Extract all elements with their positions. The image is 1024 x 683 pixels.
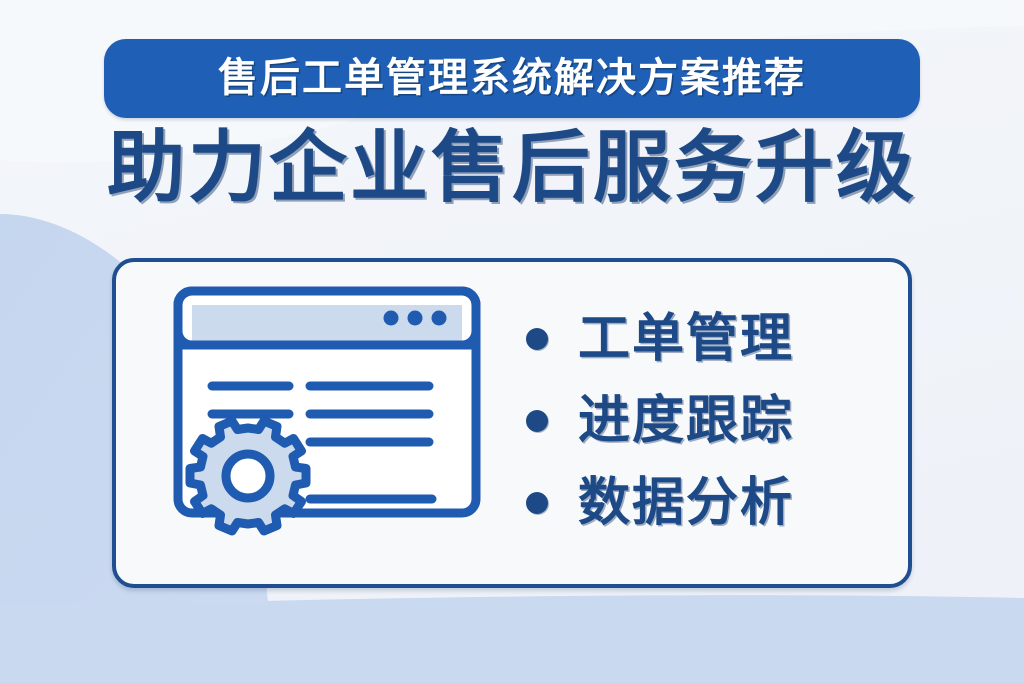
banner-title: 售后工单管理系统解决方案推荐	[218, 58, 806, 98]
list-item: 进度跟踪	[526, 395, 908, 447]
gear-icon	[190, 421, 306, 531]
ticket-window-gear-icon	[164, 273, 504, 573]
feature-label-ticket-management: 工单管理	[578, 313, 794, 365]
feature-label-data-analysis: 数据分析	[578, 477, 794, 529]
poster-canvas: 售后工单管理系统解决方案推荐 助力企业售后服务升级	[0, 0, 1024, 683]
feature-list: 工单管理 进度跟踪 数据分析	[504, 313, 908, 529]
feature-card: 工单管理 进度跟踪 数据分析	[112, 258, 912, 588]
list-item: 工单管理	[526, 313, 908, 365]
bullet-dot-icon	[526, 410, 548, 432]
feature-label-progress-tracking: 进度跟踪	[578, 395, 794, 447]
window-dots-group	[384, 311, 447, 326]
bullet-dot-icon	[526, 492, 548, 514]
list-item: 数据分析	[526, 477, 908, 529]
bullet-dot-icon	[526, 328, 548, 350]
page-title: 助力企业售后服务升级	[0, 127, 1024, 209]
banner-pill: 售后工单管理系统解决方案推荐	[104, 39, 920, 118]
